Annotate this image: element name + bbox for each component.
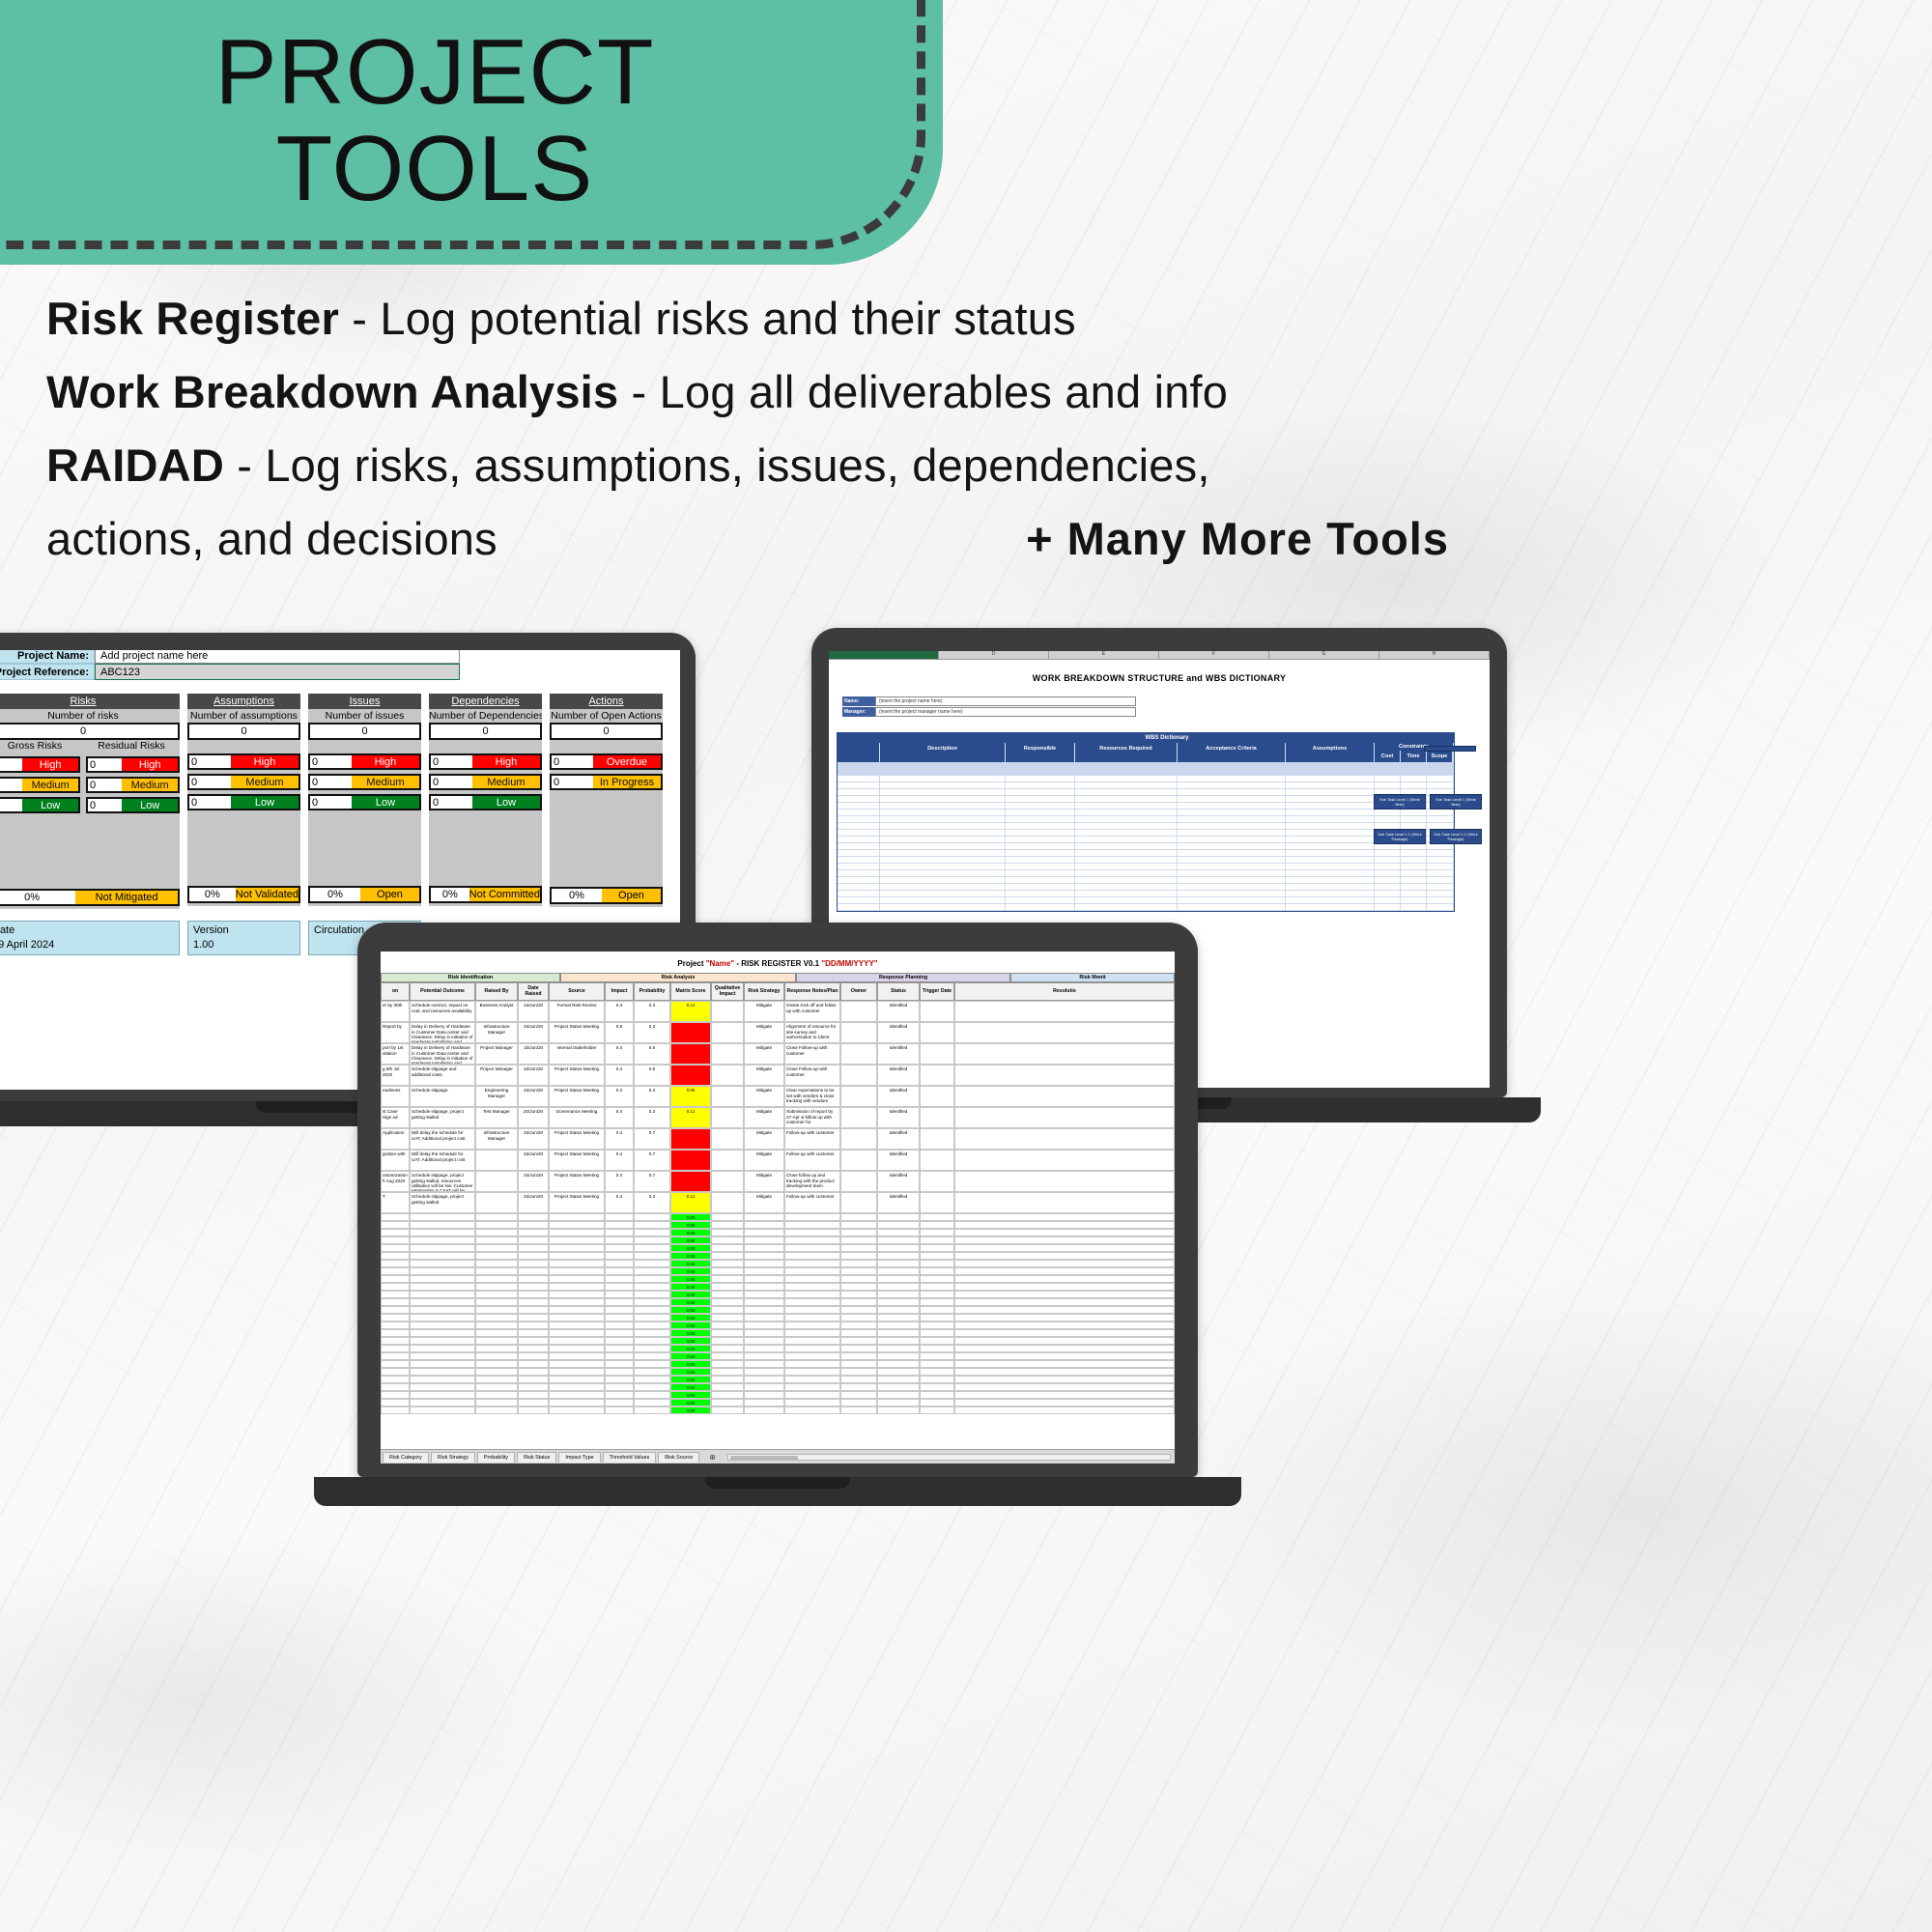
wbs-table-cell[interactable]	[1375, 850, 1401, 856]
wbs-table-cell[interactable]	[1178, 843, 1286, 849]
wbs-table-cell[interactable]	[1286, 769, 1375, 775]
rr-cell-matrix-score[interactable]: 0.00	[670, 1244, 711, 1252]
rr-cell-raised-by[interactable]	[475, 1244, 518, 1252]
rr-cell-risk-id[interactable]	[381, 1298, 410, 1306]
wbs-table-row[interactable]	[838, 830, 1454, 837]
rr-cell-qualitative-impact[interactable]	[711, 1345, 744, 1352]
rr-cell-matrix-score[interactable]: 0.00	[670, 1283, 711, 1291]
rr-cell-potential-outcome[interactable]: Schedule slippage and additional costs	[410, 1065, 475, 1086]
rr-cell-risk-id[interactable]	[381, 1383, 410, 1391]
rr-cell-response-notes[interactable]	[784, 1376, 840, 1383]
wbs-table-row[interactable]	[838, 891, 1454, 897]
rr-cell-matrix-score[interactable]: 0.00	[670, 1329, 711, 1337]
rr-cell-impact[interactable]	[605, 1391, 634, 1399]
rr-cell-date-raised[interactable]	[518, 1314, 549, 1321]
rr-cell-date-raised[interactable]	[518, 1306, 549, 1314]
rr-cell-impact[interactable]: 0.4	[605, 1107, 634, 1128]
rr-cell-trigger-date[interactable]	[920, 1383, 954, 1391]
wbs-table-cell[interactable]	[1006, 857, 1075, 863]
wbs-table-row[interactable]	[838, 850, 1454, 857]
wbs-table-cell[interactable]	[880, 796, 1006, 802]
rr-cell-status[interactable]	[877, 1391, 920, 1399]
rr-cell-risk-strategy[interactable]	[744, 1275, 784, 1283]
wbs-table-cell[interactable]	[1006, 870, 1075, 876]
rr-cell-owner[interactable]	[840, 1298, 877, 1306]
wbs-table-cell[interactable]	[1375, 782, 1401, 788]
rr-cell-probability[interactable]	[634, 1376, 670, 1383]
rr-empty-row[interactable]: 0.00	[381, 1229, 1175, 1236]
rr-cell-matrix-score[interactable]: 0.00	[670, 1368, 711, 1376]
rr-empty-row[interactable]: 0.00	[381, 1236, 1175, 1244]
rr-cell-risk-id[interactable]	[381, 1345, 410, 1352]
rr-cell-risk-id[interactable]	[381, 1360, 410, 1368]
rr-cell-date-raised[interactable]	[518, 1267, 549, 1275]
rr-cell-source[interactable]	[549, 1352, 605, 1360]
rr-cell-probability[interactable]: 0.7	[634, 1150, 670, 1171]
rr-cell-owner[interactable]	[840, 1022, 877, 1043]
wbs-table-cell[interactable]	[1427, 864, 1454, 869]
rr-cell-qualitative-impact[interactable]	[711, 1244, 744, 1252]
rr-empty-row[interactable]: 0.00	[381, 1283, 1175, 1291]
rr-cell-status[interactable]	[877, 1298, 920, 1306]
wbs-table-cell[interactable]	[1286, 823, 1375, 829]
rr-cell-trigger-date[interactable]	[920, 1267, 954, 1275]
rr-cell-matrix-score[interactable]: 0.00	[670, 1291, 711, 1298]
rr-cell-trigger-date[interactable]	[920, 1260, 954, 1267]
rr-empty-row[interactable]: 0.00	[381, 1360, 1175, 1368]
rr-cell-response-notes[interactable]: Follow-up with customer	[784, 1128, 840, 1150]
rr-cell-qualitative-impact[interactable]	[711, 1267, 744, 1275]
rr-cell-potential-outcome[interactable]	[410, 1283, 475, 1291]
rr-cell-raised-by[interactable]	[475, 1291, 518, 1298]
rr-cell-risk-strategy[interactable]	[744, 1221, 784, 1229]
rr-cell-risk-id[interactable]	[381, 1260, 410, 1267]
wbs-table-cell[interactable]	[1006, 850, 1075, 856]
rr-cell-response-notes[interactable]	[784, 1391, 840, 1399]
rr-cell-qualitative-impact[interactable]	[711, 1399, 744, 1406]
rr-cell-qualitative-impact[interactable]	[711, 1321, 744, 1329]
rr-cell-qualitative-impact[interactable]	[711, 1383, 744, 1391]
rr-cell-potential-outcome[interactable]: Schedule slippage, project getting stall…	[410, 1192, 475, 1213]
rr-cell-status[interactable]	[877, 1221, 920, 1229]
rr-cell-probability[interactable]	[634, 1252, 670, 1260]
rr-cell-resolution[interactable]	[954, 1221, 1175, 1229]
wbs-table-cell[interactable]	[1075, 810, 1178, 815]
wbs-table-cell[interactable]	[1178, 864, 1286, 869]
wbs-table-row[interactable]	[838, 810, 1454, 816]
wbs-table-cell[interactable]	[1286, 864, 1375, 869]
rr-cell-risk-id[interactable]	[381, 1244, 410, 1252]
rr-empty-row[interactable]: 0.00	[381, 1321, 1175, 1329]
rr-empty-row[interactable]: 0.00	[381, 1376, 1175, 1383]
rr-cell-risk-strategy[interactable]: Mitigate	[744, 1065, 784, 1086]
rr-cell-risk-strategy[interactable]	[744, 1376, 784, 1383]
rr-cell-qualitative-impact[interactable]	[711, 1171, 744, 1192]
rr-cell-raised-by[interactable]	[475, 1192, 518, 1213]
rr-empty-row[interactable]: 0.00	[381, 1298, 1175, 1306]
rr-cell-impact[interactable]	[605, 1352, 634, 1360]
rr-cell-matrix-score[interactable]: 0.00	[670, 1213, 711, 1221]
rr-cell-owner[interactable]	[840, 1399, 877, 1406]
rr-cell-qualitative-impact[interactable]	[711, 1337, 744, 1345]
wbs-table-cell[interactable]	[1006, 810, 1075, 815]
rr-cell-status[interactable]	[877, 1368, 920, 1376]
rr-cell-trigger-date[interactable]	[920, 1221, 954, 1229]
wbs-table-cell[interactable]	[1075, 782, 1178, 788]
wbs-table-cell[interactable]	[1178, 870, 1286, 876]
rr-cell-owner[interactable]	[840, 1267, 877, 1275]
rr-cell-potential-outcome[interactable]	[410, 1376, 475, 1383]
tab-risk-category[interactable]: Risk Category	[383, 1452, 429, 1463]
wbs-table-cell[interactable]	[1401, 897, 1427, 903]
rr-cell-status[interactable]: Identified	[877, 1107, 920, 1128]
rr-cell-potential-outcome[interactable]: Schedule slippage, project getting stall…	[410, 1171, 475, 1192]
wbs-table-cell[interactable]	[1178, 769, 1286, 775]
rr-cell-qualitative-impact[interactable]	[711, 1221, 744, 1229]
rr-cell-impact[interactable]	[605, 1337, 634, 1345]
rr-cell-impact[interactable]: 0.6	[605, 1022, 634, 1043]
wbs-table-cell[interactable]	[1286, 796, 1375, 802]
rr-cell-trigger-date[interactable]	[920, 1171, 954, 1192]
tab-threshold-values[interactable]: Threshold Values	[603, 1452, 657, 1463]
wbs-table-cell[interactable]	[1375, 904, 1401, 910]
rr-cell-impact[interactable]	[605, 1291, 634, 1298]
rr-cell-resolution[interactable]	[954, 1252, 1175, 1260]
rr-cell-risk-id[interactable]: port by 1st allation	[381, 1043, 410, 1065]
rr-cell-owner[interactable]	[840, 1352, 877, 1360]
column-header-h[interactable]: H	[1379, 651, 1490, 659]
wbs-table-cell[interactable]	[1006, 782, 1075, 788]
rr-cell-impact[interactable]	[605, 1360, 634, 1368]
wbs-table-cell[interactable]	[1006, 864, 1075, 869]
rr-cell-date-raised[interactable]: 15/Jun/20	[518, 1150, 549, 1171]
rr-cell-resolution[interactable]	[954, 1236, 1175, 1244]
wbs-table-cell[interactable]	[1427, 884, 1454, 890]
rr-cell-matrix-score[interactable]: 0.00	[670, 1352, 711, 1360]
wbs-manager-input[interactable]: (insert the project manager name here)	[875, 707, 1136, 717]
wbs-table-cell[interactable]	[1401, 776, 1427, 781]
rr-cell-potential-outcome[interactable]	[410, 1267, 475, 1275]
rr-empty-row[interactable]: 0.00	[381, 1329, 1175, 1337]
rr-cell-risk-id[interactable]	[381, 1321, 410, 1329]
wbs-table-row[interactable]	[838, 803, 1454, 810]
rr-cell-potential-outcome[interactable]	[410, 1229, 475, 1236]
wbs-table-row[interactable]	[838, 816, 1454, 823]
rr-cell-response-notes[interactable]	[784, 1368, 840, 1376]
wbs-table-cell[interactable]	[1075, 850, 1178, 856]
wbs-table-cell[interactable]	[838, 850, 880, 856]
wbs-table-cell[interactable]	[1006, 769, 1075, 775]
wbs-table-row[interactable]	[838, 776, 1454, 782]
rr-data-row[interactable]: st Case Sign edSchedule slippage, projec…	[381, 1107, 1175, 1128]
wbs-table-cell[interactable]	[1075, 897, 1178, 903]
rr-data-row[interactable]: g 5th Jul 2020Schedule slippage and addi…	[381, 1065, 1175, 1086]
rr-cell-response-notes[interactable]: Follow-up with customer	[784, 1192, 840, 1213]
rr-cell-risk-strategy[interactable]	[744, 1213, 784, 1221]
wbs-table-row[interactable]	[838, 782, 1454, 789]
rr-cell-date-raised[interactable]	[518, 1360, 549, 1368]
wbs-table-cell[interactable]	[1401, 810, 1427, 815]
wbs-table-cell[interactable]	[1401, 782, 1427, 788]
rr-cell-potential-outcome[interactable]: Schedule slippage	[410, 1086, 475, 1107]
rr-cell-date-raised[interactable]	[518, 1345, 549, 1352]
wbs-table-cell[interactable]	[1178, 789, 1286, 795]
rr-cell-raised-by[interactable]	[475, 1329, 518, 1337]
rr-cell-probability[interactable]	[634, 1321, 670, 1329]
wbs-table-cell[interactable]	[1178, 904, 1286, 910]
rr-cell-potential-outcome[interactable]	[410, 1275, 475, 1283]
wbs-table-cell[interactable]	[838, 891, 880, 896]
rr-cell-owner[interactable]	[840, 1128, 877, 1150]
wbs-table-cell[interactable]	[1075, 891, 1178, 896]
rr-cell-probability[interactable]	[634, 1229, 670, 1236]
rr-cell-probability[interactable]	[634, 1244, 670, 1252]
rr-cell-matrix-score[interactable]: 0.00	[670, 1236, 711, 1244]
rr-cell-source[interactable]	[549, 1329, 605, 1337]
wbs-table-cell[interactable]	[1401, 884, 1427, 890]
rr-cell-resolution[interactable]	[954, 1383, 1175, 1391]
rr-cell-status[interactable]	[877, 1406, 920, 1414]
rr-cell-owner[interactable]	[840, 1291, 877, 1298]
rr-cell-owner[interactable]	[840, 1275, 877, 1283]
wbs-table-cell[interactable]	[1375, 810, 1401, 815]
rr-cell-source[interactable]	[549, 1337, 605, 1345]
rr-cell-raised-by[interactable]	[475, 1314, 518, 1321]
rr-data-row[interactable]: eadinessSchedule slippageEngineering Man…	[381, 1086, 1175, 1107]
wbs-table-cell[interactable]	[838, 843, 880, 849]
add-sheet-icon[interactable]: ⊕	[709, 1453, 716, 1462]
rr-cell-qualitative-impact[interactable]	[711, 1107, 744, 1128]
wbs-table-cell[interactable]	[838, 870, 880, 876]
wbs-table-row[interactable]	[838, 877, 1454, 884]
rr-cell-date-raised[interactable]: 20/Jun/20	[518, 1107, 549, 1128]
rr-cell-response-notes[interactable]	[784, 1321, 840, 1329]
rr-cell-risk-strategy[interactable]	[744, 1260, 784, 1267]
rr-cell-source[interactable]: Project Status Meeting	[549, 1022, 605, 1043]
rr-cell-response-notes[interactable]	[784, 1406, 840, 1414]
rr-cell-status[interactable]	[877, 1314, 920, 1321]
rr-cell-trigger-date[interactable]	[920, 1337, 954, 1345]
rr-empty-row[interactable]: 0.00	[381, 1391, 1175, 1399]
rr-cell-qualitative-impact[interactable]	[711, 1275, 744, 1283]
rr-cell-matrix-score[interactable]: 0.00	[670, 1267, 711, 1275]
rr-cell-probability[interactable]: 0.3	[634, 1107, 670, 1128]
wbs-table-cell[interactable]	[1401, 891, 1427, 896]
rr-cell-source[interactable]	[549, 1376, 605, 1383]
rr-cell-trigger-date[interactable]	[920, 1376, 954, 1383]
rr-cell-response-notes[interactable]	[784, 1236, 840, 1244]
rr-cell-resolution[interactable]	[954, 1352, 1175, 1360]
wbs-table-cell[interactable]	[1401, 857, 1427, 863]
rr-cell-source[interactable]	[549, 1399, 605, 1406]
rr-cell-potential-outcome[interactable]	[410, 1221, 475, 1229]
rr-cell-matrix-score[interactable]: 0.20	[670, 1065, 711, 1086]
rr-cell-resolution[interactable]	[954, 1128, 1175, 1150]
wbs-table-cell[interactable]	[1178, 897, 1286, 903]
rr-cell-impact[interactable]	[605, 1283, 634, 1291]
rr-data-row[interactable]: ustomization h Aug 2020Schedule slippage…	[381, 1171, 1175, 1192]
wbs-table-cell[interactable]	[1375, 897, 1401, 903]
rr-cell-owner[interactable]	[840, 1171, 877, 1192]
rr-cell-trigger-date[interactable]	[920, 1306, 954, 1314]
rr-cell-qualitative-impact[interactable]	[711, 1022, 744, 1043]
rr-cell-potential-outcome[interactable]	[410, 1399, 475, 1406]
rr-cell-source[interactable]	[549, 1406, 605, 1414]
rr-cell-potential-outcome[interactable]	[410, 1291, 475, 1298]
rr-cell-trigger-date[interactable]	[920, 1275, 954, 1283]
rr-cell-raised-by[interactable]	[475, 1150, 518, 1171]
rr-cell-raised-by[interactable]: Project Manager	[475, 1065, 518, 1086]
rr-cell-trigger-date[interactable]	[920, 1043, 954, 1065]
rr-cell-response-notes[interactable]	[784, 1221, 840, 1229]
rr-cell-date-raised[interactable]	[518, 1399, 549, 1406]
rr-cell-source[interactable]	[549, 1221, 605, 1229]
rr-cell-qualitative-impact[interactable]	[711, 1376, 744, 1383]
rr-cell-source[interactable]	[549, 1306, 605, 1314]
wbs-table-cell[interactable]	[1401, 904, 1427, 910]
rr-cell-date-raised[interactable]	[518, 1252, 549, 1260]
rr-cell-response-notes[interactable]: Close Follow-up with customer	[784, 1065, 840, 1086]
rr-cell-resolution[interactable]	[954, 1065, 1175, 1086]
rr-cell-source[interactable]	[549, 1252, 605, 1260]
rr-cell-qualitative-impact[interactable]	[711, 1360, 744, 1368]
rr-cell-qualitative-impact[interactable]	[711, 1368, 744, 1376]
rr-cell-owner[interactable]	[840, 1406, 877, 1414]
wbs-table-cell[interactable]	[1375, 776, 1401, 781]
rr-cell-raised-by[interactable]: Infrastructure Manager	[475, 1022, 518, 1043]
rr-cell-trigger-date[interactable]	[920, 1321, 954, 1329]
wbs-table-cell[interactable]	[1375, 877, 1401, 883]
rr-cell-raised-by[interactable]	[475, 1368, 518, 1376]
column-header-selected[interactable]	[829, 651, 939, 659]
rr-cell-impact[interactable]: 0.4	[605, 1001, 634, 1022]
wbs-table-cell[interactable]	[1006, 904, 1075, 910]
rr-cell-impact[interactable]	[605, 1321, 634, 1329]
rr-cell-response-notes[interactable]	[784, 1314, 840, 1321]
rr-cell-owner[interactable]	[840, 1252, 877, 1260]
rr-cell-potential-outcome[interactable]	[410, 1391, 475, 1399]
rr-cell-date-raised[interactable]	[518, 1244, 549, 1252]
rr-cell-response-notes[interactable]	[784, 1399, 840, 1406]
wbs-table-cell[interactable]	[1286, 810, 1375, 815]
rr-cell-owner[interactable]	[840, 1376, 877, 1383]
wbs-table-cell[interactable]	[838, 803, 880, 809]
rr-cell-matrix-score[interactable]: 0.06	[670, 1086, 711, 1107]
wbs-table-cell[interactable]	[1427, 891, 1454, 896]
rr-cell-probability[interactable]: 0.5	[634, 1065, 670, 1086]
rr-cell-qualitative-impact[interactable]	[711, 1192, 744, 1213]
rr-cell-probability[interactable]	[634, 1275, 670, 1283]
wbs-table-cell[interactable]	[1075, 776, 1178, 781]
rr-cell-matrix-score[interactable]: 0.00	[670, 1337, 711, 1345]
rr-cell-owner[interactable]	[840, 1150, 877, 1171]
rr-cell-matrix-score[interactable]: 0.20	[670, 1043, 711, 1065]
rr-cell-qualitative-impact[interactable]	[711, 1352, 744, 1360]
rr-cell-date-raised[interactable]	[518, 1321, 549, 1329]
rr-cell-owner[interactable]	[840, 1329, 877, 1337]
rr-cell-status[interactable]: Identified	[877, 1192, 920, 1213]
wbs-table-cell[interactable]	[1006, 877, 1075, 883]
rr-cell-status[interactable]: Identified	[877, 1171, 920, 1192]
wbs-table-cell[interactable]	[1006, 837, 1075, 842]
tab-risk-source[interactable]: Risk Source	[658, 1452, 699, 1463]
rr-cell-probability[interactable]	[634, 1383, 670, 1391]
rr-cell-date-raised[interactable]: 15/Jun/20	[518, 1022, 549, 1043]
wbs-table-cell[interactable]	[1006, 789, 1075, 795]
rr-cell-date-raised[interactable]	[518, 1221, 549, 1229]
wbs-table-cell[interactable]	[1178, 857, 1286, 863]
rr-cell-probability[interactable]: 0.3	[634, 1086, 670, 1107]
rr-cell-response-notes[interactable]: Follow-up with customer	[784, 1150, 840, 1171]
rr-cell-resolution[interactable]	[954, 1022, 1175, 1043]
wbs-table-cell[interactable]	[1178, 796, 1286, 802]
wbs-table-cell[interactable]	[1006, 823, 1075, 829]
rr-cell-owner[interactable]	[840, 1244, 877, 1252]
rr-cell-resolution[interactable]	[954, 1306, 1175, 1314]
rr-cell-qualitative-impact[interactable]	[711, 1150, 744, 1171]
rr-cell-probability[interactable]	[634, 1314, 670, 1321]
rr-cell-qualitative-impact[interactable]	[711, 1236, 744, 1244]
rr-cell-raised-by[interactable]	[475, 1275, 518, 1283]
rr-cell-response-notes[interactable]: Close Follow-up with customer	[784, 1043, 840, 1065]
rr-cell-response-notes[interactable]	[784, 1360, 840, 1368]
rr-cell-risk-id[interactable]	[381, 1213, 410, 1221]
wbs-table-row[interactable]	[838, 843, 1454, 850]
rr-cell-risk-id[interactable]	[381, 1221, 410, 1229]
wbs-table-cell[interactable]	[1006, 776, 1075, 781]
rr-cell-status[interactable]: Identified	[877, 1043, 920, 1065]
rr-cell-source[interactable]: Project Status Meeting	[549, 1192, 605, 1213]
rr-cell-source[interactable]	[549, 1321, 605, 1329]
wbs-table-cell[interactable]	[1286, 904, 1375, 910]
wbs-table-cell[interactable]	[1401, 864, 1427, 869]
wbs-table-cell[interactable]	[1075, 904, 1178, 910]
rr-cell-raised-by[interactable]	[475, 1345, 518, 1352]
rr-cell-response-notes[interactable]	[784, 1275, 840, 1283]
rr-cell-status[interactable]	[877, 1260, 920, 1267]
rr-cell-owner[interactable]	[840, 1360, 877, 1368]
rr-cell-response-notes[interactable]	[784, 1267, 840, 1275]
tab-risk-strategy[interactable]: Risk Strategy	[431, 1452, 475, 1463]
rr-cell-trigger-date[interactable]	[920, 1150, 954, 1171]
wbs-table-cell[interactable]	[880, 877, 1006, 883]
wbs-table-row[interactable]	[838, 884, 1454, 891]
rr-cell-resolution[interactable]	[954, 1337, 1175, 1345]
rr-empty-row[interactable]: 0.00	[381, 1383, 1175, 1391]
wbs-table-cell[interactable]	[1006, 816, 1075, 822]
rr-cell-owner[interactable]	[840, 1321, 877, 1329]
rr-cell-resolution[interactable]	[954, 1267, 1175, 1275]
rr-cell-owner[interactable]	[840, 1192, 877, 1213]
rr-cell-date-raised[interactable]	[518, 1260, 549, 1267]
rr-cell-potential-outcome[interactable]: Schedule overrun, impact on cost, and re…	[410, 1001, 475, 1022]
wbs-table-cell[interactable]	[1178, 810, 1286, 815]
rr-cell-risk-id[interactable]	[381, 1236, 410, 1244]
rr-cell-resolution[interactable]	[954, 1244, 1175, 1252]
rr-cell-resolution[interactable]	[954, 1368, 1175, 1376]
rr-cell-impact[interactable]: 0.4	[605, 1065, 634, 1086]
rr-cell-owner[interactable]	[840, 1260, 877, 1267]
wbs-table-cell[interactable]	[1286, 877, 1375, 883]
wbs-table-cell[interactable]	[1286, 850, 1375, 856]
rr-cell-resolution[interactable]	[954, 1213, 1175, 1221]
wbs-table-row[interactable]	[838, 796, 1454, 803]
rr-cell-response-notes[interactable]	[784, 1298, 840, 1306]
rr-cell-risk-strategy[interactable]	[744, 1291, 784, 1298]
wbs-table-cell[interactable]	[1006, 796, 1075, 802]
rr-cell-response-notes[interactable]	[784, 1244, 840, 1252]
rr-cell-probability[interactable]: 0.3	[634, 1022, 670, 1043]
